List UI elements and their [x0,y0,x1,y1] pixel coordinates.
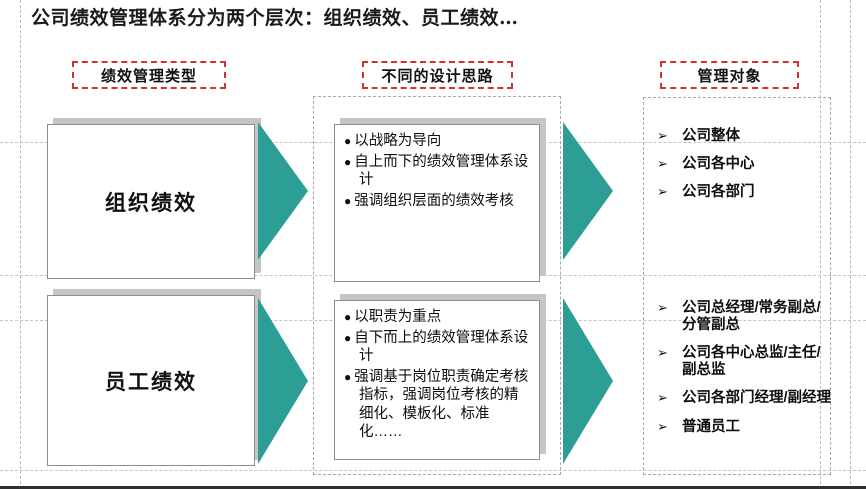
chevron-right-icon: ➢ [657,300,668,315]
guide-vertical-right-outer [850,0,851,489]
chevron-right-icon: ➢ [657,345,668,360]
slide-canvas: 公司绩效管理体系分为两个层次：组织绩效、员工绩效… 绩效管理类型 不同的设计思路… [0,0,866,489]
card-employee-performance[interactable]: 员工绩效 [47,295,255,466]
bullet-list: 以职责为重点 自下而上的绩效管理体系设计 强调基于岗位职责确定考核指标，强调岗位… [344,308,532,444]
list-item: ➢ 公司各中心总监/主任/副总监 [655,345,833,379]
card-organization-performance[interactable]: 组织绩效 [47,124,255,279]
column-header-performance-type: 绩效管理类型 [72,61,226,89]
chevron-right-icon: ➢ [657,419,668,434]
list-item-label: 普通员工 [682,419,740,435]
target-list-employee: ➢ 公司总经理/常务副总/分管副总 ➢ 公司各中心总监/主任/副总监 ➢ 公司各… [655,300,833,447]
guide-vertical-left [20,0,21,489]
target-list-organization: ➢ 公司整体 ➢ 公司各中心 ➢ 公司各部门 [655,128,833,212]
card-surface: 员工绩效 [47,295,255,466]
chevron-right-icon: ➢ [657,390,668,405]
card-design-approach-employee[interactable]: 以职责为重点 自下而上的绩效管理体系设计 强调基于岗位职责确定考核指标，强调岗位… [334,300,540,460]
card-label: 员工绩效 [48,366,254,396]
chevron-right-icon: ➢ [657,184,668,199]
list-item-label: 公司各中心 [682,156,755,172]
arrow-right-icon-row1-left [258,122,308,260]
list-item: 以战略为导向 [344,132,532,151]
list-item-label: 公司各部门 [682,184,755,200]
card-design-approach-organization[interactable]: 以战略为导向 自上而下的绩效管理体系设计 强调组织层面的绩效考核 [334,124,540,282]
list-item: 自上而下的绩效管理体系设计 [344,153,532,190]
list-item: ➢ 公司各部门 [655,184,833,201]
list-item-label: 公司总经理/常务副总/分管副总 [682,300,821,333]
list-item: ➢ 公司各中心 [655,156,833,173]
list-item: ➢ 普通员工 [655,419,833,436]
list-item: 以职责为重点 [344,308,532,327]
card-surface: 以战略为导向 自上而下的绩效管理体系设计 强调组织层面的绩效考核 [334,124,540,282]
list-item: ➢ 公司整体 [655,128,833,145]
list-item: 自下而上的绩效管理体系设计 [344,329,532,366]
card-label: 组织绩效 [48,187,254,217]
list-item-label: 公司整体 [682,128,740,144]
card-surface: 组织绩效 [47,124,255,279]
list-item: ➢ 公司总经理/常务副总/分管副总 [655,300,833,334]
bullet-list: 以战略为导向 自上而下的绩效管理体系设计 强调组织层面的绩效考核 [344,132,532,212]
card-surface: 以职责为重点 自下而上的绩效管理体系设计 强调基于岗位职责确定考核指标，强调岗位… [334,300,540,460]
list-item: 强调基于岗位职责确定考核指标，强调岗位考核的精细化、模板化、标准化…… [344,368,532,442]
list-item-label: 公司各部门经理/副经理 [682,390,831,406]
arrow-right-icon-row2-right [563,298,613,464]
list-item-label: 公司各中心总监/主任/副总监 [682,345,821,378]
list-item: ➢ 公司各部门经理/副经理 [655,390,833,407]
chevron-right-icon: ➢ [657,128,668,143]
column-header-design-approach: 不同的设计思路 [362,61,513,89]
column-header-management-object: 管理对象 [660,61,799,89]
page-title: 公司绩效管理体系分为两个层次：组织绩效、员工绩效… [31,3,519,30]
chevron-right-icon: ➢ [657,156,668,171]
list-item: 强调组织层面的绩效考核 [344,192,532,211]
arrow-right-icon-row1-right [563,122,613,260]
arrow-right-icon-row2-left [258,298,308,464]
